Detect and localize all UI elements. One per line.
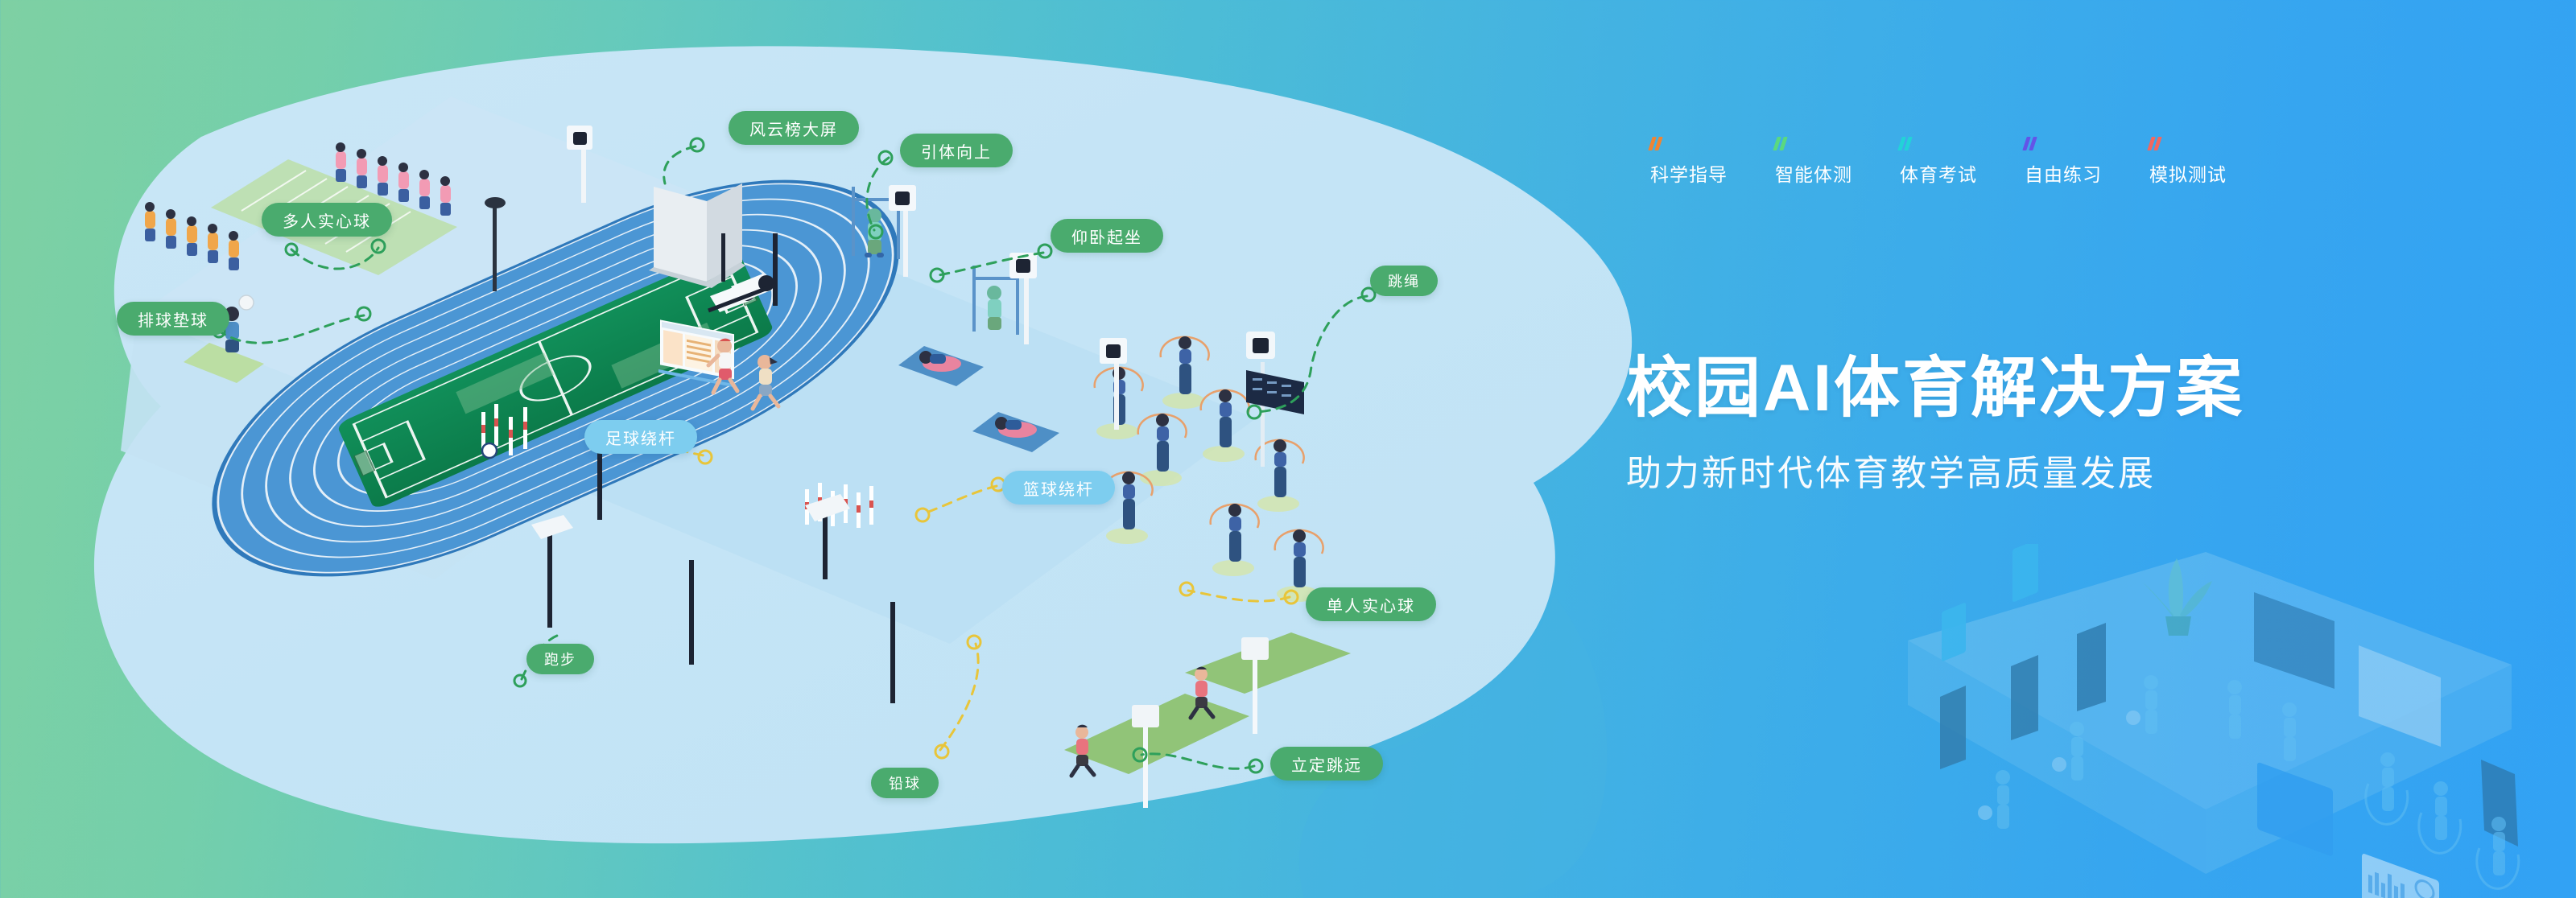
- feature-tag-label: 自由练习: [2025, 164, 2102, 185]
- feature-tag-5[interactable]: 模拟测试: [2149, 137, 2274, 187]
- callout-8[interactable]: 篮球绕杆: [1002, 471, 1115, 505]
- headline-block: 校园AI体育解决方案 助力新时代体育教学高质量发展: [1626, 354, 2244, 496]
- feature-tag-label: 科学指导: [1650, 164, 1728, 185]
- feature-tag-4[interactable]: 自由练习: [2025, 137, 2149, 187]
- feature-tag-3[interactable]: 体育考试: [1900, 137, 2025, 187]
- hero-content-panel: 科学指导智能体测体育考试自由练习模拟测试 校园AI体育解决方案 助力新时代体育教…: [1650, 137, 2495, 187]
- feature-tag-label: 模拟测试: [2149, 164, 2227, 185]
- callout-3[interactable]: 风云榜大屏: [729, 111, 859, 145]
- indoor-ai-gym-scene: [1787, 544, 2576, 898]
- callout-4[interactable]: 引体向上: [900, 134, 1013, 167]
- feature-tag-label: 体育考试: [1900, 164, 1977, 185]
- callout-6[interactable]: 跳绳: [1370, 266, 1438, 296]
- callout-12[interactable]: 立定跳远: [1270, 747, 1383, 781]
- callout-11[interactable]: 铅球: [871, 768, 939, 798]
- callout-10[interactable]: 跑步: [526, 644, 594, 674]
- callout-2[interactable]: 排球垫球: [117, 302, 229, 336]
- double-slash-icon: [2149, 137, 2274, 153]
- gym-isometric: [1787, 544, 2576, 898]
- sports-field-illustration: 多人实心球排球垫球风云榜大屏引体向上仰卧起坐跳绳足球绕杆篮球绕杆单人实心球跑步铅…: [0, 0, 1650, 898]
- double-slash-icon: [1900, 137, 2025, 153]
- feature-tag-list: 科学指导智能体测体育考试自由练习模拟测试: [1650, 137, 2495, 187]
- page-subtitle: 助力新时代体育教学高质量发展: [1626, 444, 2244, 496]
- callout-5[interactable]: 仰卧起坐: [1051, 219, 1163, 253]
- double-slash-icon: [2025, 137, 2149, 153]
- standing-jump-stations: [1064, 632, 1351, 808]
- callout-1[interactable]: 多人实心球: [262, 203, 392, 237]
- feature-tag-label: 智能体测: [1775, 164, 1852, 185]
- feature-tag-1[interactable]: 科学指导: [1650, 137, 1775, 187]
- feature-tag-2[interactable]: 智能体测: [1775, 137, 1900, 187]
- page-title: 校园AI体育解决方案: [1626, 354, 2244, 423]
- double-slash-icon: [1775, 137, 1900, 153]
- callout-7[interactable]: 足球绕杆: [584, 420, 697, 454]
- double-slash-icon: [1650, 137, 1775, 153]
- callout-9[interactable]: 单人实心球: [1306, 587, 1436, 621]
